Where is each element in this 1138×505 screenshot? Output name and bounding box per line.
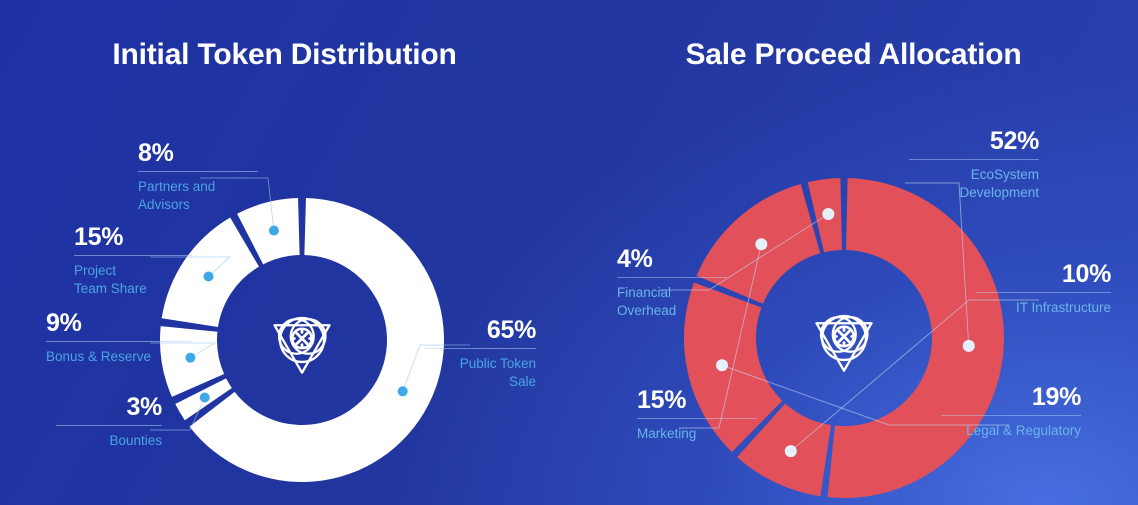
brand-emblem-right [816, 316, 871, 371]
callout-project-team-share: 15% Project Team Share [74, 224, 192, 297]
callout-percent: 10% [976, 261, 1111, 287]
callout-rule [46, 341, 191, 342]
callout-public-token-sale: 65% Public Token Sale [424, 317, 536, 390]
callout-label: Legal & Regulatory [941, 422, 1081, 439]
callout-marketing: 15% Marketing [637, 387, 757, 443]
callout-label: Marketing [637, 425, 757, 442]
leader-dot [785, 445, 797, 457]
callout-percent: 9% [46, 310, 191, 336]
callout-label: Project Team Share [74, 262, 192, 297]
callout-bonus-reserve: 9% Bonus & Reserve [46, 310, 191, 366]
callout-percent: 19% [941, 384, 1081, 410]
chart-panel-initial-token-distribution: Initial Token Distribution [0, 0, 569, 505]
callout-percent: 4% [617, 246, 727, 272]
leader-dot [755, 238, 767, 250]
leader-dot [398, 386, 408, 396]
leader-dot [269, 226, 279, 236]
callout-legal-regulatory: 19% Legal & Regulatory [941, 384, 1081, 440]
leader-dot [204, 271, 214, 281]
callout-label: Bonus & Reserve [46, 348, 191, 365]
infographic-stage: Initial Token Distribution [0, 0, 1138, 505]
leader-dot [963, 340, 975, 352]
callout-it-infrastructure: 10% IT Infrastructure [976, 261, 1111, 317]
brand-emblem-left [274, 318, 329, 373]
callout-rule [138, 171, 258, 172]
callout-label: Financial Overhead [617, 284, 727, 319]
callout-rule [74, 255, 192, 256]
callout-rule [56, 425, 162, 426]
callout-percent: 8% [138, 140, 258, 166]
callout-label: IT Infrastructure [976, 299, 1111, 316]
callout-rule [941, 415, 1081, 416]
callout-rule [637, 418, 757, 419]
chart-panel-sale-proceed-allocation: Sale Proceed Allocation [569, 0, 1138, 505]
callout-percent: 3% [56, 394, 162, 420]
callout-rule [976, 292, 1111, 293]
callout-bounties: 3% Bounties [56, 394, 162, 450]
callout-percent: 65% [424, 317, 536, 343]
callout-percent: 15% [74, 224, 192, 250]
callout-rule [909, 159, 1039, 160]
callout-label: Public Token Sale [424, 355, 536, 390]
callout-percent: 52% [909, 128, 1039, 154]
leader-dot [716, 359, 728, 371]
callout-label: Bounties [56, 432, 162, 449]
callout-label: Partners and Advisors [138, 178, 258, 213]
callout-label: EcoSystem Development [909, 166, 1039, 201]
callout-financial-overhead: 4% Financial Overhead [617, 246, 727, 319]
callout-rule [617, 277, 727, 278]
callout-ecosystem-development: 52% EcoSystem Development [909, 128, 1039, 201]
leader-dot [200, 393, 210, 403]
leader-dot [822, 208, 834, 220]
callout-percent: 15% [637, 387, 757, 413]
callout-partners-advisors: 8% Partners and Advisors [138, 140, 258, 213]
callout-rule [424, 348, 536, 349]
